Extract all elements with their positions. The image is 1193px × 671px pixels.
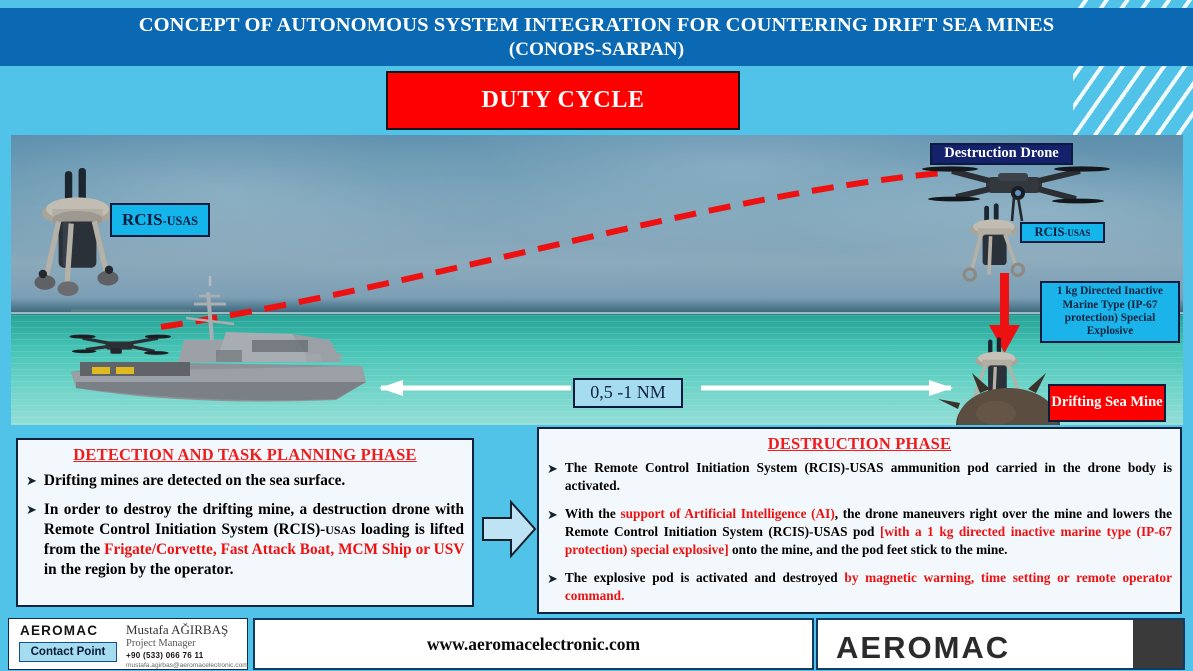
list-item: ➤ With the support of Artificial Intelli… [547, 505, 1172, 558]
page-title-line1: CONCEPT OF AUTONOMOUS SYSTEM INTEGRATION… [139, 12, 1055, 38]
contact-card: AEROMAC Contact Point Mustafa AĞIRBAŞ Pr… [8, 618, 248, 670]
company-logo-text: AEROMAC [836, 630, 1010, 666]
naval-vessel [69, 276, 366, 402]
website-url: www.aeromacelectronic.com [427, 634, 640, 655]
label-drifting-sea-mine: Drifting Sea Mine [1048, 384, 1166, 422]
contact-card-brand: AEROMAC [20, 623, 98, 638]
label-rcis-left-main: RCIS [122, 210, 163, 229]
label-rcis-usas-left: RCIS-USAS [110, 203, 210, 237]
flow-arrow-icon [481, 498, 537, 560]
label-rcis-right-main: RCIS [1035, 225, 1065, 239]
destruction-phase-panel: DESTRUCTION PHASE ➤ The Remote Control I… [537, 427, 1182, 614]
logo-dark-block [1133, 620, 1183, 670]
rcis-pod-lowering [964, 203, 1023, 280]
slide-title-bar: CONCEPT OF AUTONOMOUS SYSTEM INTEGRATION… [0, 8, 1193, 66]
list-item: ➤ The Remote Control Initiation System (… [547, 459, 1172, 494]
list-item: ➤ The explosive pod is activated and des… [547, 569, 1172, 604]
list-item: ➤ Drifting mines are detected on the sea… [26, 471, 464, 491]
label-distance-range: 0,5 -1 NM [573, 378, 683, 408]
contact-role: Project Manager [126, 638, 196, 649]
website-box[interactable]: www.aeromacelectronic.com [253, 618, 814, 670]
bullet-arrow-icon: ➤ [547, 459, 558, 494]
slide-footer: AEROMAC Contact Point Mustafa AĞIRBAŞ Pr… [0, 616, 1193, 671]
bullet-arrow-icon: ➤ [26, 471, 37, 491]
duty-cycle-banner: DUTY CYCLE [386, 71, 740, 130]
descent-arrow [989, 273, 1020, 353]
list-item-text: With the support of Artificial Intellige… [565, 505, 1172, 558]
contact-phone: +90 (533) 066 76 11 [126, 651, 204, 660]
comms-link-dashed-line [161, 173, 941, 327]
slide-canvas: CONCEPT OF AUTONOMOUS SYSTEM INTEGRATION… [0, 0, 1193, 671]
rcis-pod-left [34, 168, 118, 296]
label-destruction-drone: Destruction Drone [930, 143, 1073, 165]
detection-phase-heading: DETECTION AND TASK PLANNING PHASE [26, 445, 464, 465]
label-rcis-right-sub: -USAS [1064, 228, 1090, 238]
list-item: ➤ In order to destroy the drifting mine,… [26, 500, 464, 580]
destruction-drone [922, 166, 1110, 221]
detection-phase-panel: DETECTION AND TASK PLANNING PHASE ➤ Drif… [16, 438, 474, 607]
list-item-text: The Remote Control Initiation System (RC… [565, 459, 1172, 494]
list-item-text: The explosive pod is activated and destr… [565, 569, 1172, 604]
page-title-line2: (CONOPS-SARPAN) [509, 38, 684, 62]
bullet-arrow-icon: ➤ [26, 500, 37, 580]
bullet-arrow-icon: ➤ [547, 505, 558, 558]
company-logo-box: AEROMAC [816, 618, 1185, 670]
contact-point-button[interactable]: Contact Point [19, 642, 117, 662]
contact-email[interactable]: mustafa.agirbas@aeromacelectronic.com [126, 662, 248, 669]
label-rcis-left-sub: -USAS [163, 214, 198, 228]
destruction-phase-heading: DESTRUCTION PHASE [547, 434, 1172, 454]
bullet-arrow-icon: ➤ [547, 569, 558, 604]
list-item-text: Drifting mines are detected on the sea s… [44, 471, 345, 491]
label-special-explosive: 1 kg Directed Inactive Marine Type (IP-6… [1040, 281, 1180, 343]
list-item-text: In order to destroy the drifting mine, a… [44, 500, 464, 580]
label-rcis-usas-right: RCIS-USAS [1020, 222, 1105, 243]
contact-name: Mustafa AĞIRBAŞ [126, 622, 228, 638]
